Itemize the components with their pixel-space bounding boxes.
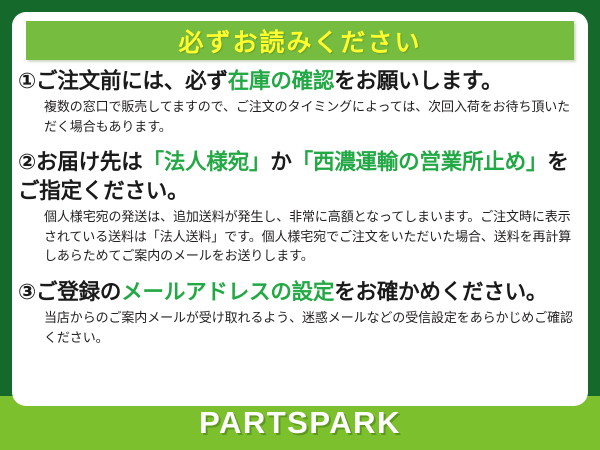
- notice-list: ①ご注文前には、必ず在庫の確認をお願いします。複数の窓口で販売してますので、ご注…: [12, 67, 588, 347]
- highlighted-text: メールアドレスの設定: [121, 280, 334, 304]
- highlighted-text: 「西濃運輸の営業所止め」: [292, 150, 548, 174]
- heading-text: か: [270, 150, 291, 174]
- heading-text: ご注文前には、必ず: [36, 69, 228, 93]
- heading-text: をお願いします。: [334, 69, 502, 93]
- header-band: 必ずお読みください: [26, 21, 574, 60]
- notice-heading: ②お届け先は「法人様宛」か「西濃運輸の営業所止め」をご指定ください。: [18, 148, 578, 205]
- heading-text: ご登録の: [36, 280, 121, 304]
- notice-heading: ①ご注文前には、必ず在庫の確認をお願いします。: [18, 67, 578, 95]
- brand-logo: PARTSPARK: [199, 405, 401, 441]
- notice-item: ①ご注文前には、必ず在庫の確認をお願いします。複数の窓口で販売してますので、ご注…: [12, 67, 588, 136]
- highlighted-text: 「法人様宛」: [143, 150, 271, 174]
- notice-heading: ③ご登録のメールアドレスの設定をお確かめください。: [18, 278, 578, 306]
- notice-number: ①: [18, 69, 36, 93]
- notice-body: 当店からのご案内メールが受け取れるよう、迷惑メールなどの受信設定をあらかじめご確…: [44, 308, 578, 347]
- notice-number: ③: [18, 280, 36, 304]
- heading-text: お届け先は: [36, 150, 143, 174]
- notice-item: ②お届け先は「法人様宛」か「西濃運輸の営業所止め」をご指定ください。個人様宅宛の…: [12, 148, 588, 265]
- notice-banner: PARTSPARK 必ずお読みください ①ご注文前には、必ず在庫の確認をお願いし…: [0, 0, 600, 450]
- notice-number: ②: [18, 150, 36, 174]
- heading-text: をお確かめください。: [334, 280, 547, 304]
- page-title: 必ずお読みください: [178, 23, 421, 59]
- notice-body: 複数の窓口で販売してますので、ご注文のタイミングによっては、次回入荷をお待ち頂い…: [44, 97, 578, 136]
- notice-body: 個人様宅宛の発送は、追加送料が発生し、非常に高額となってしまいます。ご注文時に表…: [44, 207, 578, 266]
- notice-card: 必ずお読みください ①ご注文前には、必ず在庫の確認をお願いします。複数の窓口で販…: [12, 12, 588, 406]
- notice-item: ③ご登録のメールアドレスの設定をお確かめください。当店からのご案内メールが受け取…: [12, 278, 588, 347]
- highlighted-text: 在庫の確認: [228, 69, 335, 93]
